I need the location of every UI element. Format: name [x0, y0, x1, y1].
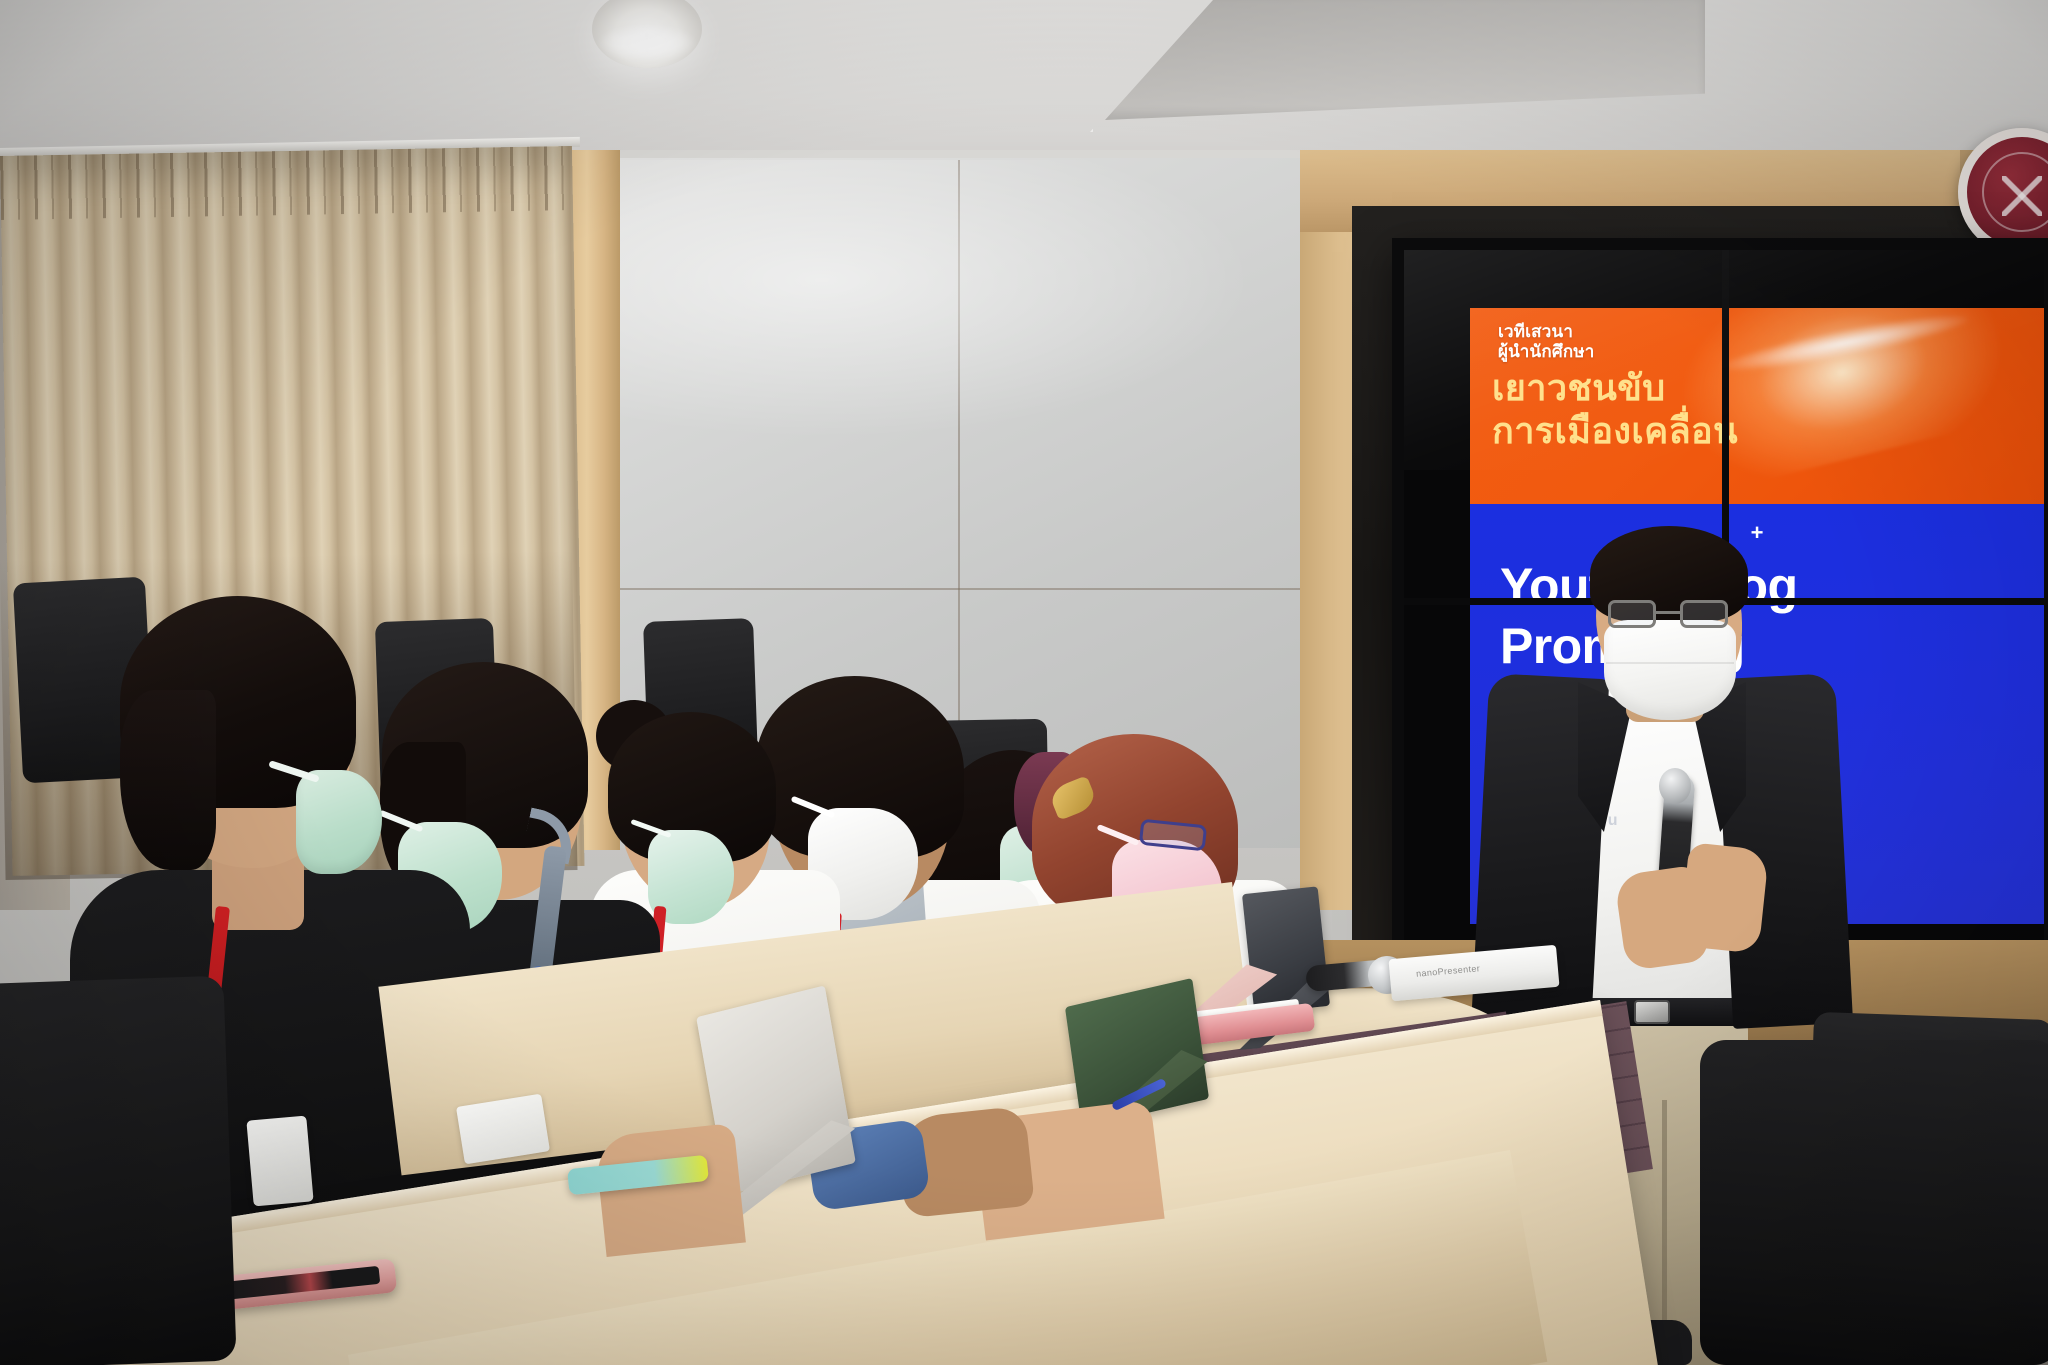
- slide-kicker: เวทีเสวนา ผู้นำนักศึกษา: [1498, 322, 1594, 362]
- slide-thai-line-1: เยาวชนขับ: [1492, 366, 1738, 409]
- slide-english-line-2: Promoting: [1500, 616, 2020, 676]
- university-seal-mark: [2002, 176, 2042, 216]
- speaker-belt-buckle: [1634, 1000, 1670, 1024]
- wall-panel-seam-horizontal: [614, 588, 1314, 590]
- slide-english-line-1: Youth Dialog: [1500, 556, 2020, 616]
- speaker-hand-right: [1679, 842, 1769, 954]
- microphone-head: [1659, 768, 1691, 804]
- attendee-1-hair-side: [120, 690, 216, 870]
- glasses-lens-right: [1680, 600, 1728, 628]
- curtain-pleats: [0, 146, 573, 220]
- speaker-glasses-icon: [1608, 600, 1728, 630]
- speaker-face-mask: [1604, 620, 1736, 720]
- id-badge: [246, 1116, 313, 1207]
- foreground-chair-right: [1700, 1040, 2048, 1365]
- foreground-chair-left: [0, 976, 237, 1365]
- seminar-room-photo: เวทีเสวนา ผู้นำนักศึกษา เยาวชนขับ การเมื…: [0, 0, 2048, 1365]
- slide-thai-headline: เยาวชนขับ การเมืองเคลื่อน: [1492, 366, 1738, 452]
- slide-thai-line-2: การเมืองเคลื่อน: [1492, 409, 1738, 452]
- slide-kicker-line-2: ผู้นำนักศึกษา: [1498, 342, 1594, 362]
- speaker-mask-fold: [1606, 662, 1734, 664]
- glasses-lens-left: [1608, 600, 1656, 628]
- glasses-bridge: [1656, 611, 1680, 614]
- slide-kicker-line-1: เวทีเสวนา: [1498, 322, 1594, 342]
- downlight-glow: [598, 24, 696, 62]
- slide-plus-icon: +: [1751, 522, 1764, 544]
